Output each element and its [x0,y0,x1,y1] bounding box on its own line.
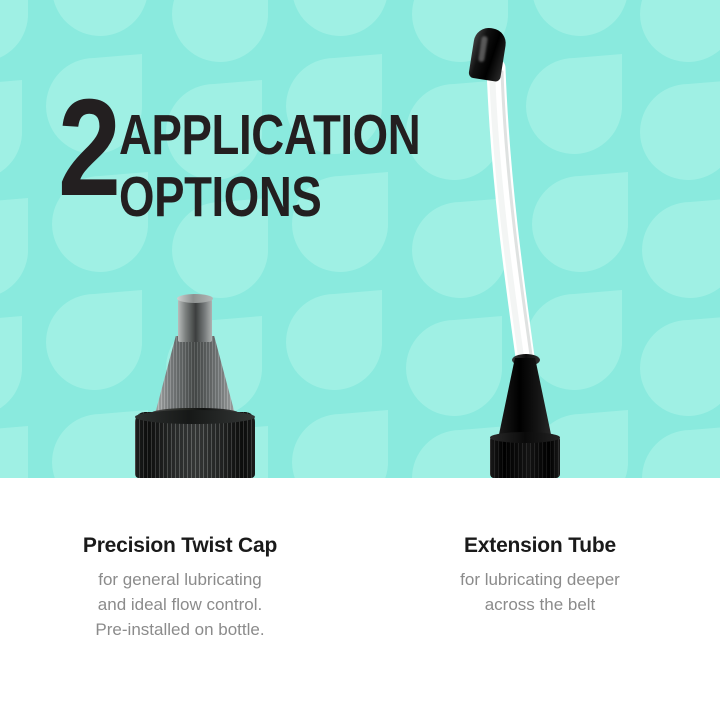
twist-cap-cone-ribs [155,336,235,414]
caption-row: Precision Twist Cap for general lubricat… [0,478,720,720]
twist-cap-tip-rim [177,294,213,303]
caption-line: Pre-installed on bottle. [0,617,360,642]
caption-line: for lubricating deeper [360,567,720,592]
caption-title: Precision Twist Cap [0,534,360,558]
caption-line: across the belt [360,592,720,617]
hero-panel: 2 APPLICATION OPTIONS [0,0,720,478]
caption-line: and ideal flow control. [0,592,360,617]
twist-cap-base-top [135,410,255,424]
caption-title: Extension Tube [360,534,720,558]
headline-number: 2 [58,92,118,204]
headline-line-2: OPTIONS [119,166,420,228]
extension-tube-base-top [490,432,560,443]
headline: 2 APPLICATION OPTIONS [58,92,495,228]
twist-cap-icon [120,296,270,478]
promo-graphic: 2 APPLICATION OPTIONS [0,0,720,720]
caption-extension-tube: Extension Tube for lubricating deeper ac… [360,478,720,720]
extension-tube-icon [440,28,660,478]
caption-line: for general lubricating [0,567,360,592]
headline-line-1: APPLICATION [119,104,420,166]
extension-tube-hose [440,28,660,478]
headline-lines: APPLICATION OPTIONS [119,92,496,228]
caption-twist-cap: Precision Twist Cap for general lubricat… [0,478,360,720]
